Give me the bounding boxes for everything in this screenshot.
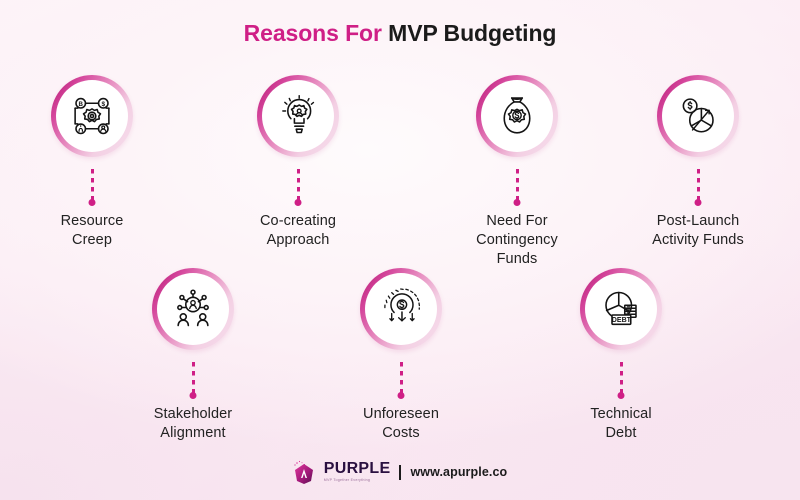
- reason-label-line1: Co-creating: [213, 212, 383, 231]
- connector-line: [297, 169, 300, 203]
- connector-line: [516, 169, 519, 203]
- page-title-main: MVP Budgeting: [388, 20, 556, 46]
- svg-text:DEBT: DEBT: [612, 317, 632, 324]
- connector-dot: [295, 199, 302, 206]
- reason-label-line1: Unforeseen: [316, 405, 486, 424]
- reason-label: Stakeholder Alignment: [108, 405, 278, 443]
- icon-badge: B $: [51, 75, 133, 157]
- reason-label-line2: Activity Funds: [613, 231, 783, 250]
- stakeholder-network-icon: [169, 285, 217, 333]
- reason-label: Need For Contingency Funds: [432, 212, 602, 269]
- reason-label-line2: Creep: [7, 231, 177, 250]
- reason-label: Resource Creep: [7, 212, 177, 250]
- reason-node-technical-debt[interactable]: DEBT Technical Debt: [536, 268, 706, 443]
- reason-label: Technical Debt: [536, 405, 706, 443]
- reason-node-co-creating-approach[interactable]: Co-creating Approach: [213, 75, 383, 250]
- connector-line: [91, 169, 94, 203]
- reason-label: Unforeseen Costs: [316, 405, 486, 443]
- pie-chart-dollar-coin-icon: [674, 92, 722, 140]
- connector-dot: [398, 392, 405, 399]
- logo-wordmark: PURPLE: [324, 461, 391, 477]
- logo-text-column: PURPLE MVP Together Everything: [324, 461, 391, 483]
- page-title-accent: Reasons For: [244, 20, 382, 46]
- badge-wrap: B $: [7, 75, 177, 169]
- reason-label-line3: Funds: [432, 250, 602, 269]
- connector-dot: [190, 392, 197, 399]
- logo-tagline: MVP Together Everything: [324, 479, 370, 483]
- reason-label-line2: Costs: [316, 424, 486, 443]
- badge-wrap: [432, 75, 602, 169]
- connector-dot: [695, 199, 702, 206]
- connector-dot: [514, 199, 521, 206]
- connector-line: [400, 362, 403, 396]
- reason-label-line1: Resource: [7, 212, 177, 231]
- infographic-canvas: Reasons For MVP Budgeting: [0, 0, 800, 500]
- reason-label-line2: Alignment: [108, 424, 278, 443]
- reason-label-line1: Need For: [432, 212, 602, 231]
- footer-website-url: www.apurple.co: [410, 465, 507, 479]
- apurple-logo-icon: [293, 460, 315, 484]
- reason-label-line1: Technical: [536, 405, 706, 424]
- reason-label-line2: Contingency: [432, 231, 602, 250]
- connector-dot: [89, 199, 96, 206]
- connector-line: [620, 362, 623, 396]
- reason-label: Post-Launch Activity Funds: [613, 212, 783, 250]
- reason-node-resource-creep[interactable]: B $ Resource Creep: [7, 75, 177, 250]
- badge-wrap: [613, 75, 783, 169]
- badge-wrap: [213, 75, 383, 169]
- icon-badge: [476, 75, 558, 157]
- svg-text:$: $: [101, 101, 105, 108]
- footer-separator: [399, 465, 401, 480]
- connector-line: [192, 362, 195, 396]
- connector-line: [697, 169, 700, 203]
- reason-node-need-for-contingency-funds[interactable]: Need For Contingency Funds: [432, 75, 602, 269]
- reason-node-unforeseen-costs[interactable]: Unforeseen Costs: [316, 268, 486, 443]
- badge-wrap: [108, 268, 278, 362]
- money-bag-gear-dollar-icon: [493, 92, 541, 140]
- resource-network-gear-icon: B $: [68, 92, 116, 140]
- icon-badge: [360, 268, 442, 350]
- lightbulb-dollar-arrows-icon: [377, 285, 425, 333]
- reason-label-line2: Debt: [536, 424, 706, 443]
- svg-text:B: B: [79, 101, 84, 108]
- reason-label: Co-creating Approach: [213, 212, 383, 250]
- pie-chart-debt-coins-icon: DEBT: [597, 285, 645, 333]
- connector-dot: [618, 392, 625, 399]
- reason-node-post-launch-activity-funds[interactable]: Post-Launch Activity Funds: [613, 75, 783, 250]
- icon-badge: [152, 268, 234, 350]
- badge-wrap: DEBT: [536, 268, 706, 362]
- icon-badge: [657, 75, 739, 157]
- reason-label-line2: Approach: [213, 231, 383, 250]
- reason-node-stakeholder-alignment[interactable]: Stakeholder Alignment: [108, 268, 278, 443]
- reason-label-line1: Post-Launch: [613, 212, 783, 231]
- icon-badge: [257, 75, 339, 157]
- footer-branding: PURPLE MVP Together Everything www.apurp…: [0, 460, 800, 484]
- reason-label-line1: Stakeholder: [108, 405, 278, 424]
- page-title: Reasons For MVP Budgeting: [0, 20, 800, 47]
- icon-badge: DEBT: [580, 268, 662, 350]
- badge-wrap: [316, 268, 486, 362]
- lightbulb-gear-person-icon: [274, 92, 322, 140]
